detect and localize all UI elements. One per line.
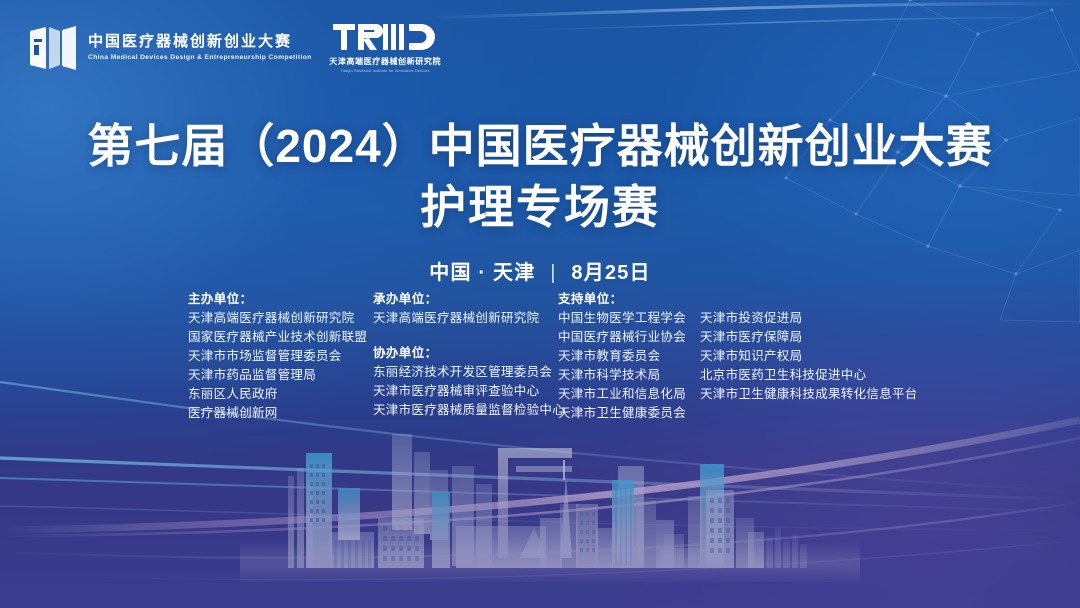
title-line-2: 护理专场赛 (0, 177, 1080, 238)
subtitle-separator: | (550, 262, 556, 285)
organizer-item: 天津市医疗器械质量监督检验中心 (373, 401, 558, 420)
organizers-block: 主办单位： 天津高端医疗器械创新研究院 国家医疗器械产业技术创新联盟 天津市市场… (188, 290, 918, 423)
heading-spacer (700, 290, 918, 309)
organizer-item: 天津高端医疗器械创新研究院 (188, 309, 373, 328)
poster-title: 第七届（2024）中国医疗器械创新创业大赛 护理专场赛 (0, 116, 1080, 237)
organizer-item: 国家医疗器械产业技术创新联盟 (188, 328, 373, 347)
organizer-item: 天津市工业和信息化局 (558, 385, 688, 404)
supporters-sub-column-left: 支持单位： 中国生物医学工程学会 中国医疗器械行业协会 天津市教育委员会 天津市… (558, 290, 688, 423)
organizer-item: 北京市医药卫生科技促进中心 (700, 366, 918, 385)
organizer-item: 中国生物医学工程学会 (558, 309, 688, 328)
competition-name-en: China Medical Devices Design & Entrepren… (88, 54, 312, 62)
organizer-item: 天津市投资促进局 (700, 309, 918, 328)
organizer-group: 协办单位： 东丽经济技术开发区管理委员会 天津市医疗器械审评查验中心 天津市医疗… (373, 344, 558, 420)
organizer-column-undertaker: 承办单位： 天津高端医疗器械创新研究院 协办单位： 东丽经济技术开发区管理委员会… (373, 290, 558, 420)
organizer-item: 天津市卫生健康委员会 (558, 404, 688, 423)
organizer-item: 天津市卫生健康科技成果转化信息平台 (700, 385, 918, 404)
organizer-item: 天津市药品监督管理局 (188, 366, 373, 385)
organizer-heading: 协办单位： (373, 344, 558, 363)
organizer-item: 天津市医疗器械审评查验中心 (373, 382, 558, 401)
organizer-heading: 主办单位： (188, 290, 373, 309)
organizer-item: 医疗器械创新网 (188, 404, 373, 423)
organizer-item: 天津市医疗保障局 (700, 328, 918, 347)
supporters-sub-column-right: 天津市投资促进局 天津市医疗保障局 天津市知识产权局 北京市医药卫生科技促进中心… (700, 290, 918, 423)
institute-logo: 天津高端医疗器械创新研究院 Tianjin Research Institute… (329, 22, 441, 73)
organizer-item: 天津市科学技术局 (558, 366, 688, 385)
city-skyline-icon (0, 408, 1080, 608)
organizer-item: 中国医疗器械行业协会 (558, 328, 688, 347)
organizer-heading: 承办单位： (373, 290, 558, 309)
competition-name-cn: 中国医疗器械创新创业大赛 (88, 33, 307, 50)
organizer-item: 天津市教育委员会 (558, 347, 688, 366)
institute-name-cn: 天津高端医疗器械创新研究院 (329, 56, 441, 67)
triid-wordmark-icon (333, 22, 437, 52)
organizer-heading: 支持单位： (558, 290, 688, 309)
competition-logo: 中国医疗器械创新创业大赛 China Medical Devices Desig… (26, 25, 307, 71)
organizer-column-supporters: 支持单位： 中国生物医学工程学会 中国医疗器械行业协会 天津市教育委员会 天津市… (558, 290, 918, 423)
organizer-item: 天津市市场监督管理委员会 (188, 347, 373, 366)
organizer-group: 主办单位： 天津高端医疗器械创新研究院 国家医疗器械产业技术创新联盟 天津市市场… (188, 290, 373, 423)
event-date: 8月25日 (571, 262, 650, 284)
organizer-group: 承办单位： 天津高端医疗器械创新研究院 (373, 290, 558, 328)
event-poster: 中国医疗器械创新创业大赛 China Medical Devices Desig… (0, 0, 1080, 608)
organizer-item: 天津高端医疗器械创新研究院 (373, 309, 558, 328)
organizer-column-host: 主办单位： 天津高端医疗器械创新研究院 国家医疗器械产业技术创新联盟 天津市市场… (188, 290, 373, 423)
organizer-item: 天津市知识产权局 (700, 347, 918, 366)
header-logos: 中国医疗器械创新创业大赛 China Medical Devices Desig… (26, 22, 441, 73)
open-door-logo-icon (26, 25, 78, 71)
organizer-item: 东丽区人民政府 (188, 385, 373, 404)
institute-name-en: Tianjin Research Institute for Innovativ… (341, 69, 430, 73)
event-location: 中国 · 天津 (429, 262, 535, 284)
event-subtitle: 中国 · 天津 | 8月25日 (0, 256, 1080, 285)
organizer-item: 东丽经济技术开发区管理委员会 (373, 363, 558, 382)
title-line-1: 第七届（2024）中国医疗器械创新创业大赛 (0, 116, 1080, 177)
